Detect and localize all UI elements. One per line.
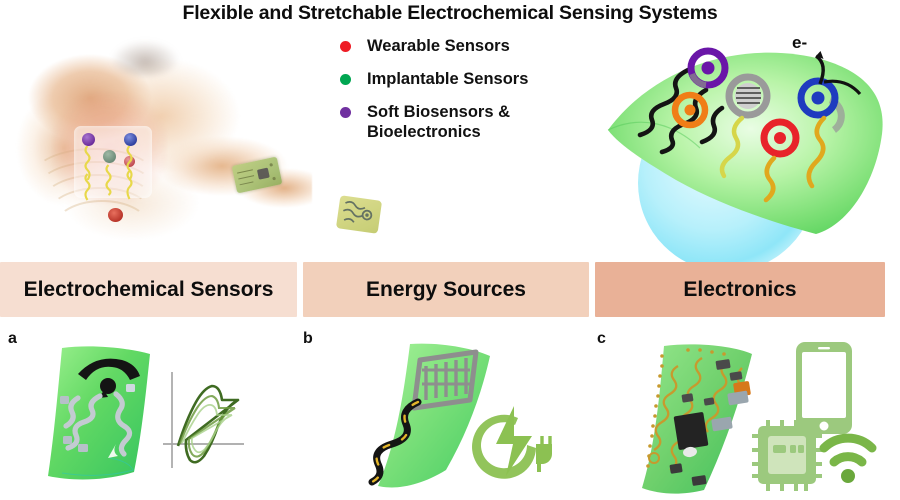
electron-annotation: e-: [792, 33, 807, 53]
banner-label: Electrochemical Sensors: [24, 278, 274, 302]
legend-label: Soft Biosensors & Bioelectronics: [367, 102, 542, 142]
shoulder-shadow: [110, 40, 180, 76]
electronics-panel: [592, 340, 900, 498]
human-torso-illustration: [2, 30, 332, 255]
sensor-dot-gray-green: [103, 150, 116, 163]
legend-item-implantable-sensors: Implantable Sensors: [340, 69, 590, 89]
figure-title: Flexible and Stretchable Electrochemical…: [0, 2, 900, 25]
wifi-dot-icon: [841, 469, 855, 483]
legend-item-wearable-sensors: Wearable Sensors: [340, 36, 590, 56]
forearm-patch-traces: [336, 195, 382, 234]
tether-red: [125, 168, 134, 202]
banner-electronics[interactable]: Electronics: [595, 262, 885, 317]
tether-center: [104, 163, 113, 197]
tether-left-lower: [83, 170, 92, 204]
legend-dot-icon: [340, 41, 351, 52]
banner-electrochemical-sensors[interactable]: Electrochemical Sensors: [0, 262, 297, 317]
sensor-dot-purple: [82, 133, 95, 146]
stretchable-membrane-illustration: e-: [596, 32, 896, 262]
microchip-icon: [752, 420, 822, 491]
banner-label: Energy Sources: [366, 278, 526, 302]
legend-label: Implantable Sensors: [367, 69, 528, 89]
energy-sources-panel: [300, 340, 590, 498]
anatomical-marker: [108, 208, 123, 222]
legend-dot-icon: [340, 107, 351, 118]
legend: Wearable Sensors Implantable Sensors Sof…: [340, 36, 590, 155]
cyclic-voltammogram-plot: [163, 372, 244, 468]
power-plug-icon: [472, 406, 552, 479]
green-membrane: [602, 38, 890, 243]
legend-item-soft-biosensors: Soft Biosensors & Bioelectronics: [340, 102, 590, 142]
legend-dot-icon: [340, 74, 351, 85]
banner-energy-sources[interactable]: Energy Sources: [303, 262, 589, 317]
legend-label: Wearable Sensors: [367, 36, 510, 56]
figure-canvas: Flexible and Stretchable Electrochemical…: [0, 0, 900, 500]
forearm-circuit-patch: [336, 195, 382, 234]
electrochemical-sensors-panel: [0, 340, 297, 498]
wifi-icon: [824, 438, 872, 462]
implantable-chest-patch: [74, 126, 152, 198]
sensor-dot-blue: [124, 133, 137, 146]
banner-label: Electronics: [683, 278, 796, 302]
